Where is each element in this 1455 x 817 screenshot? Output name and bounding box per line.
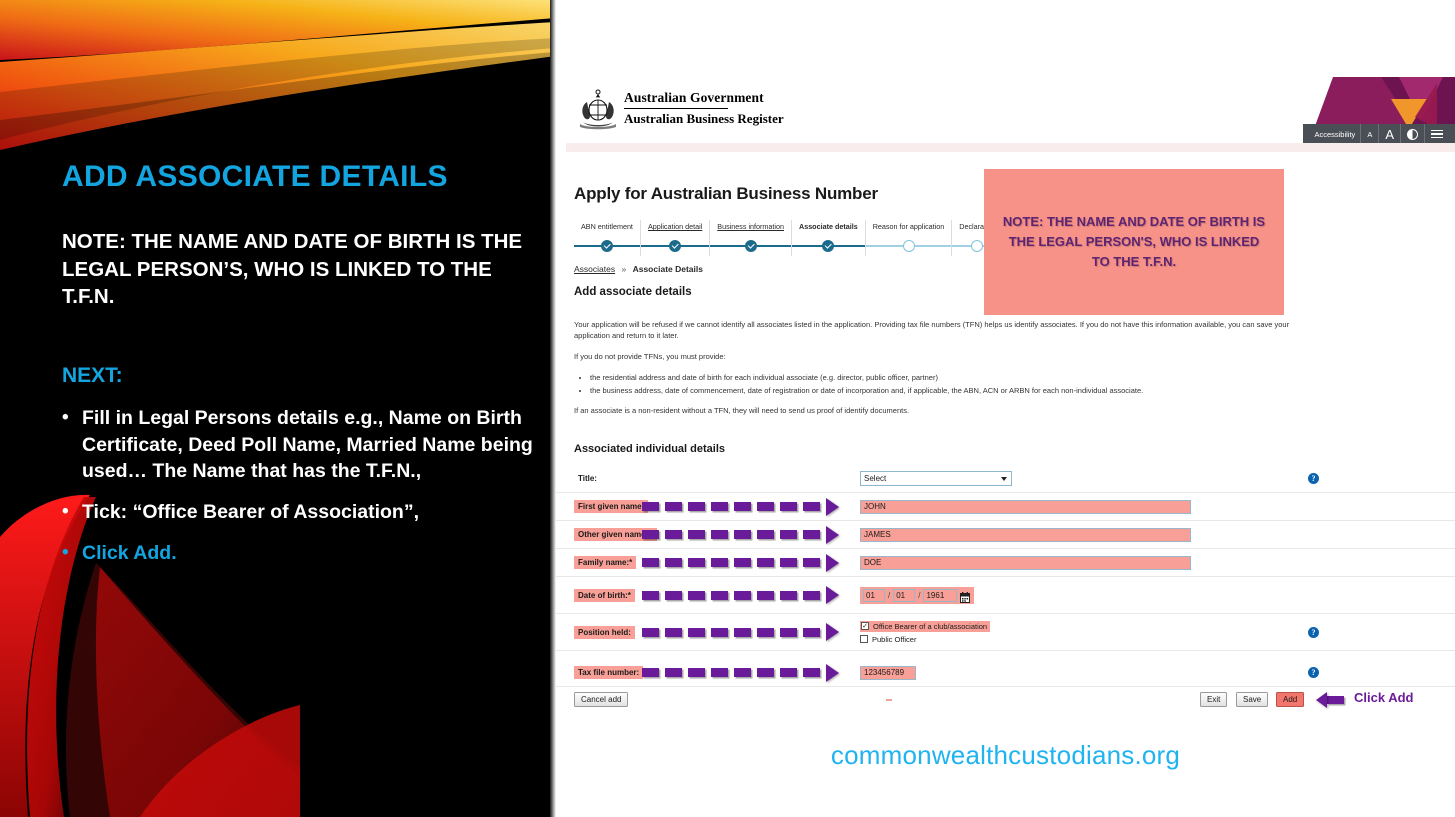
- checkbox-office-bearer[interactable]: ✓: [861, 622, 869, 630]
- intro-paragraph-1: Your application will be refused if we c…: [574, 320, 1304, 342]
- other-given-names-input[interactable]: JAMES: [860, 528, 1191, 542]
- decorative-swoosh-graphic: [0, 0, 556, 150]
- form-row-other-given-names: Other given names: JAMES: [556, 521, 1455, 549]
- bullet-text: Click Add.: [82, 540, 542, 567]
- breadcrumb-separator: »: [621, 264, 626, 274]
- gov-line-australian-government: Australian Government: [624, 90, 784, 106]
- title-select[interactable]: Select: [860, 471, 1012, 486]
- dob-day-input[interactable]: 01: [863, 589, 885, 602]
- help-icon[interactable]: ?: [1308, 473, 1319, 484]
- step-status-done-icon: [745, 240, 757, 252]
- family-name-input[interactable]: DOE: [860, 556, 1191, 570]
- step-label: Reason for application: [870, 220, 948, 240]
- contrast-icon: [1407, 129, 1418, 140]
- note-callout-box: NOTE: THE NAME AND DATE OF BIRTH IS THE …: [984, 169, 1284, 315]
- first-given-name-input-wrapper[interactable]: JOHN: [860, 500, 1191, 514]
- family-name-label: Family name:*: [574, 556, 636, 569]
- slide-bullet-list: • Fill in Legal Persons details e.g., Na…: [62, 405, 542, 581]
- slide-note-text: NOTE: THE NAME AND DATE OF BIRTH IS THE …: [62, 228, 532, 311]
- dob-year-input[interactable]: 1961: [923, 589, 957, 602]
- step-abn-entitlement[interactable]: ABN entitlement: [574, 220, 641, 256]
- intro-paragraph-2: If you do not provide TFNs, you must pro…: [574, 352, 1304, 363]
- header-accent-strip: [566, 143, 1455, 152]
- cancel-add-button[interactable]: Cancel add: [574, 692, 628, 707]
- step-label: ABN entitlement: [578, 220, 636, 240]
- list-item: • Fill in Legal Persons details e.g., Na…: [62, 405, 542, 485]
- title-select-value: Select: [864, 474, 886, 483]
- family-name-input-wrapper[interactable]: DOE: [860, 556, 1191, 570]
- increase-text-size-button[interactable]: A: [1378, 124, 1400, 144]
- checkbox-office-bearer-row[interactable]: ✓ Office Bearer of a club/association: [860, 621, 990, 632]
- annotation-arrow-position-held: [642, 626, 839, 638]
- presentation-slide-panel: ADD ASSOCIATE DETAILS NOTE: THE NAME AND…: [0, 0, 556, 817]
- bullet-dot-icon: •: [62, 540, 82, 566]
- dob-separator: /: [888, 591, 890, 600]
- accessibility-label: Accessibility: [1302, 130, 1360, 139]
- annotation-arrow-other-given-names: [642, 529, 839, 541]
- intro-text-block: Your application will be refused if we c…: [574, 320, 1304, 427]
- step-business-information[interactable]: Business information: [710, 220, 792, 256]
- annotation-click-add-text: Click Add: [1354, 690, 1413, 705]
- breadcrumb-link-associates[interactable]: Associates: [574, 264, 615, 274]
- step-status-done-icon: [601, 240, 613, 252]
- slide-next-label: NEXT:: [62, 364, 123, 388]
- government-wordmark: Australian Government Australian Busines…: [624, 90, 784, 127]
- dob-separator: /: [918, 591, 920, 600]
- form-row-first-given-name: First given name: JOHN: [556, 493, 1455, 521]
- first-given-name-input[interactable]: JOHN: [860, 500, 1191, 514]
- chevron-down-icon: [1001, 477, 1007, 481]
- dob-month-input[interactable]: 01: [893, 589, 915, 602]
- breadcrumb-current: Associate Details: [633, 264, 703, 274]
- note-callout-text: NOTE: THE NAME AND DATE OF BIRTH IS THE …: [1000, 212, 1268, 272]
- intro-paragraph-3: If an associate is a non-resident withou…: [574, 406, 1304, 417]
- accessibility-toolbar[interactable]: Accessibility A A: [1303, 124, 1455, 144]
- step-label: Business information: [714, 220, 787, 240]
- step-status-done-icon: [669, 240, 681, 252]
- list-item: • Tick: “Office Bearer of Association”,: [62, 499, 542, 526]
- wordmark-divider: [624, 108, 728, 109]
- title-label: Title:: [574, 472, 601, 485]
- abr-web-form: Australian Government Australian Busines…: [556, 0, 1455, 817]
- coat-of-arms-icon: [578, 86, 618, 130]
- decrease-text-size-button[interactable]: A: [1360, 124, 1378, 144]
- tax-file-number-input[interactable]: 123456789: [860, 666, 916, 680]
- large-a-icon: A: [1385, 127, 1394, 142]
- bullet-text: Tick: “Office Bearer of Association”,: [82, 499, 542, 526]
- list-item: • Click Add.: [62, 540, 542, 567]
- associated-individual-details-heading: Associated individual details: [574, 443, 1314, 461]
- step-status-current-icon: [822, 240, 834, 252]
- other-given-names-input-wrapper[interactable]: JAMES: [860, 528, 1191, 542]
- associate-details-form: Title: Select ? First given name:: [556, 465, 1455, 687]
- step-status-todo-icon: [971, 240, 983, 252]
- save-button[interactable]: Save: [1236, 692, 1268, 707]
- step-reason-for-application[interactable]: Reason for application: [866, 220, 953, 256]
- date-of-birth-group[interactable]: 01 / 01 / 1961: [860, 587, 974, 604]
- form-row-position-held: Position held: ✓ Office Bearer of a club…: [556, 614, 1455, 651]
- exit-button[interactable]: Exit: [1200, 692, 1227, 707]
- position-held-label: Position held:: [574, 626, 635, 639]
- checkbox-public-officer-row[interactable]: Public Officer: [860, 635, 990, 644]
- checkbox-office-bearer-label: Office Bearer of a club/association: [873, 622, 987, 631]
- help-icon[interactable]: ?: [1308, 667, 1319, 678]
- form-spacer: [556, 651, 1455, 659]
- form-row-family-name: Family name:* DOE: [556, 549, 1455, 577]
- section-heading-add-associate: Add associate details: [574, 286, 692, 298]
- form-action-bar: Cancel add Exit Save Add Click Add: [556, 690, 1455, 714]
- step-label: Application detail: [645, 220, 705, 240]
- government-header: Australian Government Australian Busines…: [556, 72, 1455, 142]
- add-button[interactable]: Add: [1276, 692, 1304, 707]
- form-row-title: Title: Select ?: [556, 465, 1455, 493]
- accessibility-menu-button[interactable]: [1424, 124, 1449, 144]
- decorative-dash: [886, 699, 892, 701]
- small-a-icon: A: [1367, 130, 1372, 139]
- checkbox-public-officer[interactable]: [860, 635, 868, 643]
- checkbox-public-officer-label: Public Officer: [872, 635, 916, 644]
- help-icon[interactable]: ?: [1308, 627, 1319, 638]
- date-of-birth-label: Date of birth:*: [574, 589, 635, 602]
- annotation-arrow-tax-file-number: [642, 667, 839, 679]
- hamburger-menu-icon: [1431, 130, 1443, 139]
- list-item: the business address, date of commenceme…: [590, 386, 1304, 397]
- annotation-arrow-click-add: [1316, 692, 1344, 708]
- bullet-dot-icon: •: [62, 405, 82, 431]
- gov-line-business-register: Australian Business Register: [624, 111, 784, 127]
- form-row-date-of-birth: Date of birth:* 01 / 01 / 1961: [556, 577, 1455, 614]
- progress-stepper: ABN entitlement Application detail Busin…: [574, 220, 974, 256]
- bullet-dot-icon: •: [62, 499, 82, 525]
- position-held-options: ✓ Office Bearer of a club/association Pu…: [860, 621, 990, 644]
- contrast-toggle-button[interactable]: [1400, 124, 1424, 144]
- first-given-name-label: First given name:: [574, 500, 648, 513]
- list-item: the residential address and date of birt…: [590, 373, 1304, 384]
- annotation-arrow-date-of-birth: [642, 589, 839, 601]
- title-select-wrapper[interactable]: Select: [860, 471, 1012, 486]
- intro-requirements-list: the residential address and date of birt…: [590, 373, 1304, 397]
- step-associate-details[interactable]: Associate details: [792, 220, 866, 256]
- tax-file-number-input-wrapper[interactable]: 123456789: [860, 666, 916, 680]
- form-row-tax-file-number: Tax file number: 123456789 ?: [556, 659, 1455, 687]
- step-status-todo-icon: [903, 240, 915, 252]
- bullet-text: Fill in Legal Persons details e.g., Name…: [82, 405, 542, 485]
- step-application-detail[interactable]: Application detail: [641, 220, 710, 256]
- calendar-icon[interactable]: [960, 590, 970, 601]
- page-title: Apply for Australian Business Number: [574, 184, 878, 204]
- annotation-arrow-first-given-name: [642, 501, 839, 513]
- site-url-footer: commonwealthcustodians.org: [556, 740, 1455, 771]
- slide-title: ADD ASSOCIATE DETAILS: [62, 160, 532, 195]
- breadcrumb: Associates » Associate Details: [574, 264, 703, 274]
- annotation-arrow-family-name: [642, 557, 839, 569]
- step-label: Associate details: [796, 220, 861, 240]
- tax-file-number-label: Tax file number:: [574, 666, 643, 679]
